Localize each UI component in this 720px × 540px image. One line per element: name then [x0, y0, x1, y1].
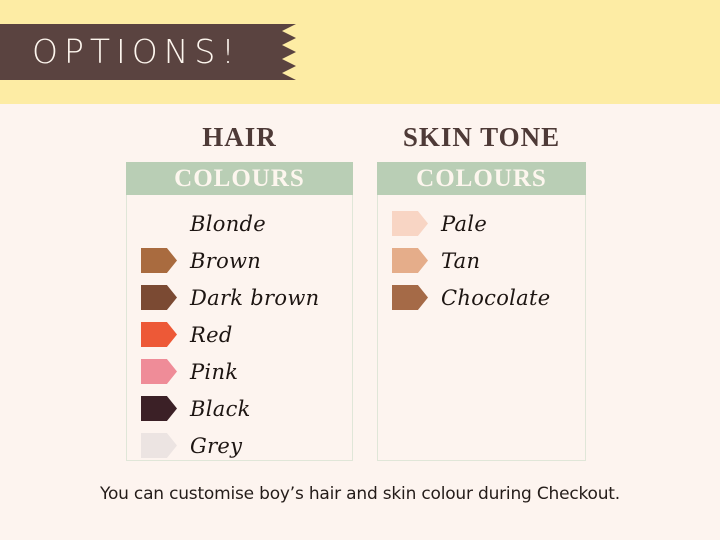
list-item[interactable]: Brown — [127, 242, 352, 279]
column-skin-tone: SKIN TONE COLOURS Pale Tan Chocolate — [377, 120, 586, 461]
colour-swatch — [141, 248, 177, 273]
colour-label: Pale — [441, 212, 487, 236]
column-header-skin-tone: COLOURS — [377, 162, 586, 195]
swatch-list-hair: Blonde Brown Dark brown Red Pink Black — [126, 195, 353, 461]
colour-swatch — [141, 396, 177, 421]
colour-label: Chocolate — [441, 286, 550, 310]
colour-label: Pink — [190, 360, 238, 384]
colour-label: Tan — [441, 249, 480, 273]
colour-swatch — [392, 285, 428, 310]
colour-swatch — [141, 211, 177, 236]
colour-swatch — [392, 248, 428, 273]
list-item[interactable]: Tan — [378, 242, 585, 279]
colour-label: Brown — [190, 249, 261, 273]
list-item[interactable]: Dark brown — [127, 279, 352, 316]
column-title-hair: HAIR — [126, 120, 353, 154]
colour-label: Red — [190, 323, 233, 347]
colour-swatch — [141, 433, 177, 458]
list-item[interactable]: Blonde — [127, 205, 352, 242]
swatch-list-skin-tone: Pale Tan Chocolate — [377, 195, 586, 461]
colour-label: Dark brown — [190, 286, 319, 310]
colour-label: Blonde — [190, 212, 266, 236]
footer-caption: You can customise boy’s hair and skin co… — [0, 484, 720, 504]
colour-label: Grey — [190, 434, 242, 458]
list-item[interactable]: Chocolate — [378, 279, 585, 316]
column-hair: HAIR COLOURS Blonde Brown Dark brown Red… — [126, 120, 353, 461]
list-item[interactable]: Red — [127, 316, 352, 353]
colour-swatch — [141, 285, 177, 310]
top-yellow-band: OPTIONS! — [0, 0, 720, 104]
list-item[interactable]: Pale — [378, 205, 585, 242]
colour-swatch — [141, 359, 177, 384]
colour-swatch — [141, 322, 177, 347]
ribbon-zigzag-edge-icon — [282, 24, 296, 80]
banner-title: OPTIONS! — [32, 24, 241, 80]
list-item[interactable]: Black — [127, 390, 352, 427]
column-header-hair: COLOURS — [126, 162, 353, 195]
colour-label: Black — [190, 397, 251, 421]
list-item[interactable]: Pink — [127, 353, 352, 390]
column-title-skin-tone: SKIN TONE — [377, 120, 586, 154]
options-ribbon: OPTIONS! — [0, 24, 300, 80]
list-item[interactable]: Grey — [127, 427, 352, 464]
colour-swatch — [392, 211, 428, 236]
